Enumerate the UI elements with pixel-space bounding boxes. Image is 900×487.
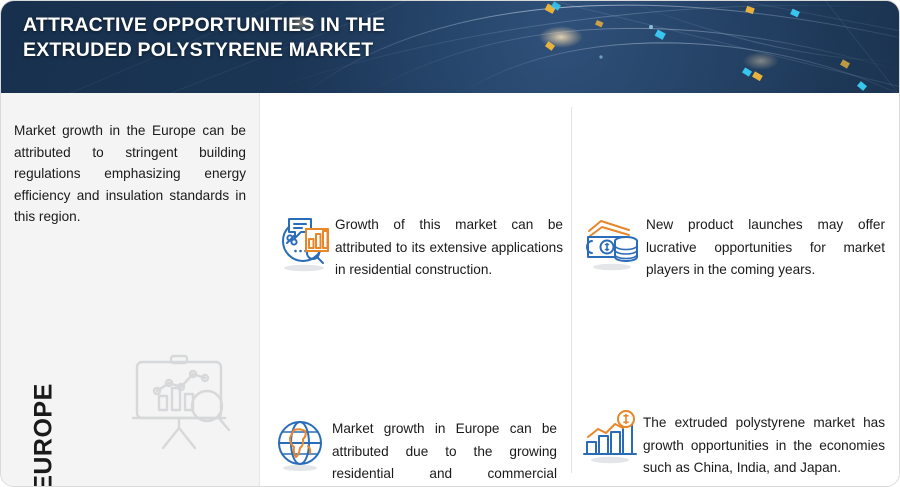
infographic-slide: ATTRACTIVE OPPORTUNITIES IN THE EXTRUDED… [0, 0, 900, 487]
money-banknote-coins-icon [581, 211, 643, 273]
region-label: EUROPE [30, 378, 59, 487]
insight-card-1-text: Growth of this market can be attributed … [335, 214, 563, 282]
column-divider [571, 107, 572, 473]
insight-card-2-text: New product launches may offer lucrative… [646, 214, 885, 282]
insight-card-3-text: Market growth in Europe can be attribute… [332, 418, 557, 487]
growth-bar-chart-dollar-icon [579, 406, 641, 468]
globe-icon [269, 416, 331, 478]
content-area: Market growth in the Europe can be attri… [1, 93, 900, 487]
presentation-board-chart-magnifier-icon [129, 348, 239, 453]
insight-card-4-text: The extruded polystyrene market has grow… [643, 412, 885, 480]
region-description: Market growth in the Europe can be attri… [14, 120, 246, 228]
page-title: ATTRACTIVE OPPORTUNITIES IN THE EXTRUDED… [23, 13, 443, 63]
market-analytics-percent-icon [273, 211, 335, 273]
panel-divider [259, 93, 260, 487]
header-banner: ATTRACTIVE OPPORTUNITIES IN THE EXTRUDED… [1, 1, 900, 93]
region-panel: Market growth in the Europe can be attri… [1, 93, 259, 487]
